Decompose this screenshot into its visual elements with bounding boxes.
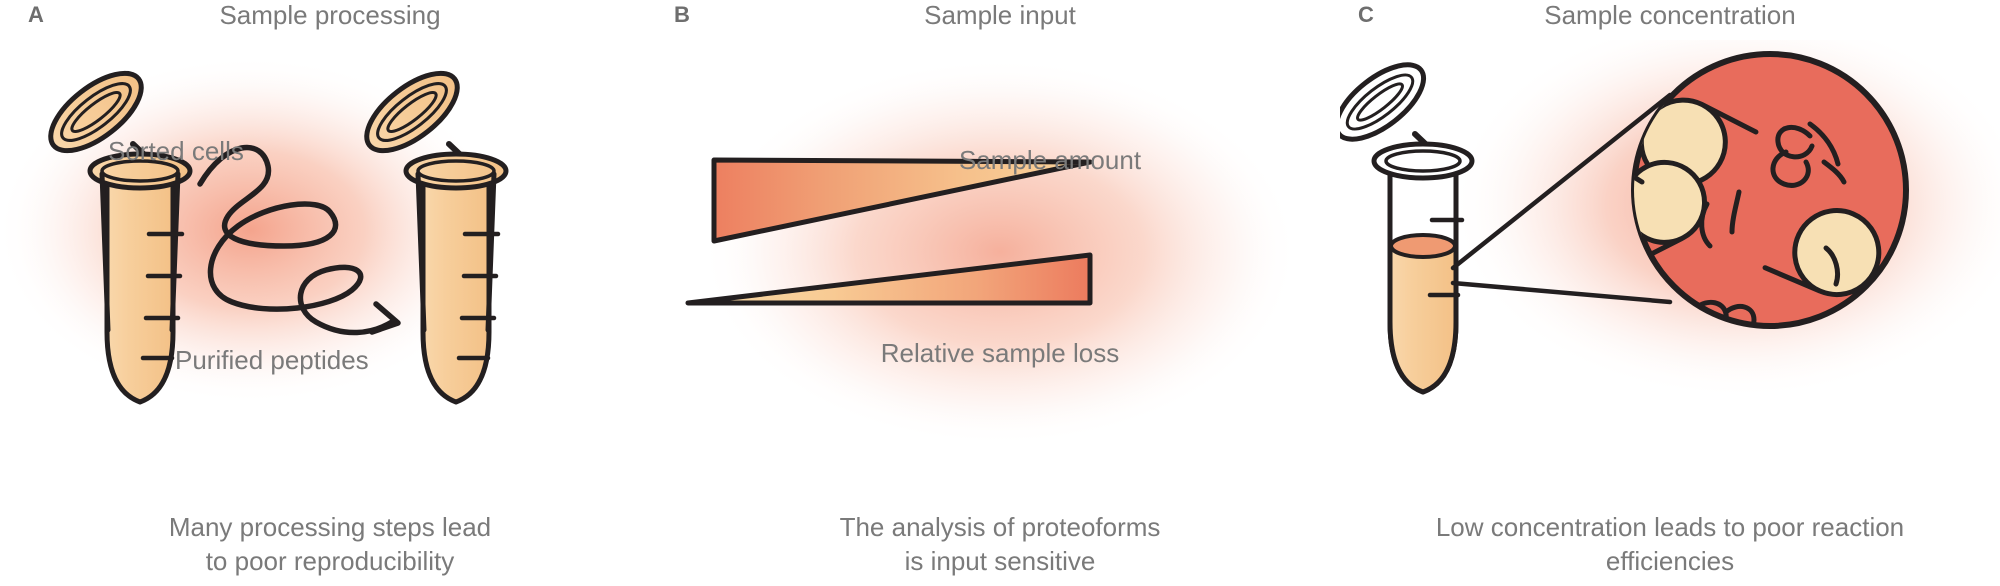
panel-c-caption-line-1: Low concentration leads to poor reaction (1340, 511, 2000, 544)
panel-c-title: Sample concentration (1340, 0, 2000, 31)
panel-a-illustration: Sorted cells Purified peptides (0, 40, 660, 500)
liquid-meniscus (1391, 235, 1455, 257)
label-sample-amount: Sample amount (710, 145, 1390, 176)
figure-root: A Sample processing (0, 0, 2000, 586)
panel-a-caption-line-1: Many processing steps lead (0, 511, 660, 544)
panel-b-illustration: Sample amount Relative sample loss (660, 40, 1340, 500)
panel-b-caption-line-1: The analysis of proteoforms (660, 511, 1340, 544)
panel-a: A Sample processing (0, 0, 660, 586)
panel-b-caption: The analysis of proteoforms is input sen… (660, 511, 1340, 578)
label-relative-sample-loss: Relative sample loss (660, 338, 1340, 369)
panel-b: B Sample input (660, 0, 1340, 586)
panel-a-caption: Many processing steps lead to poor repro… (0, 511, 660, 578)
panel-c-illustration (1340, 40, 2000, 500)
tube-icon (1340, 51, 1472, 392)
panel-a-title: Sample processing (0, 0, 660, 31)
panel-c-caption-line-2: efficiencies (1340, 545, 2000, 578)
panel-c-svg (1340, 40, 2000, 500)
panel-c-caption: Low concentration leads to poor reaction… (1340, 511, 2000, 578)
panel-b-svg (660, 40, 1340, 500)
panel-b-title: Sample input (660, 0, 1340, 31)
panel-a-svg (0, 40, 660, 500)
label-sorted-cells: Sorted cells (108, 136, 244, 167)
panel-c: C Sample concentration (1340, 0, 2000, 586)
panel-a-caption-line-2: to poor reproducibility (0, 545, 660, 578)
glow-backdrop (700, 57, 1300, 447)
label-purified-peptides: Purified peptides (175, 345, 369, 376)
panel-b-caption-line-2: is input sensitive (660, 545, 1340, 578)
